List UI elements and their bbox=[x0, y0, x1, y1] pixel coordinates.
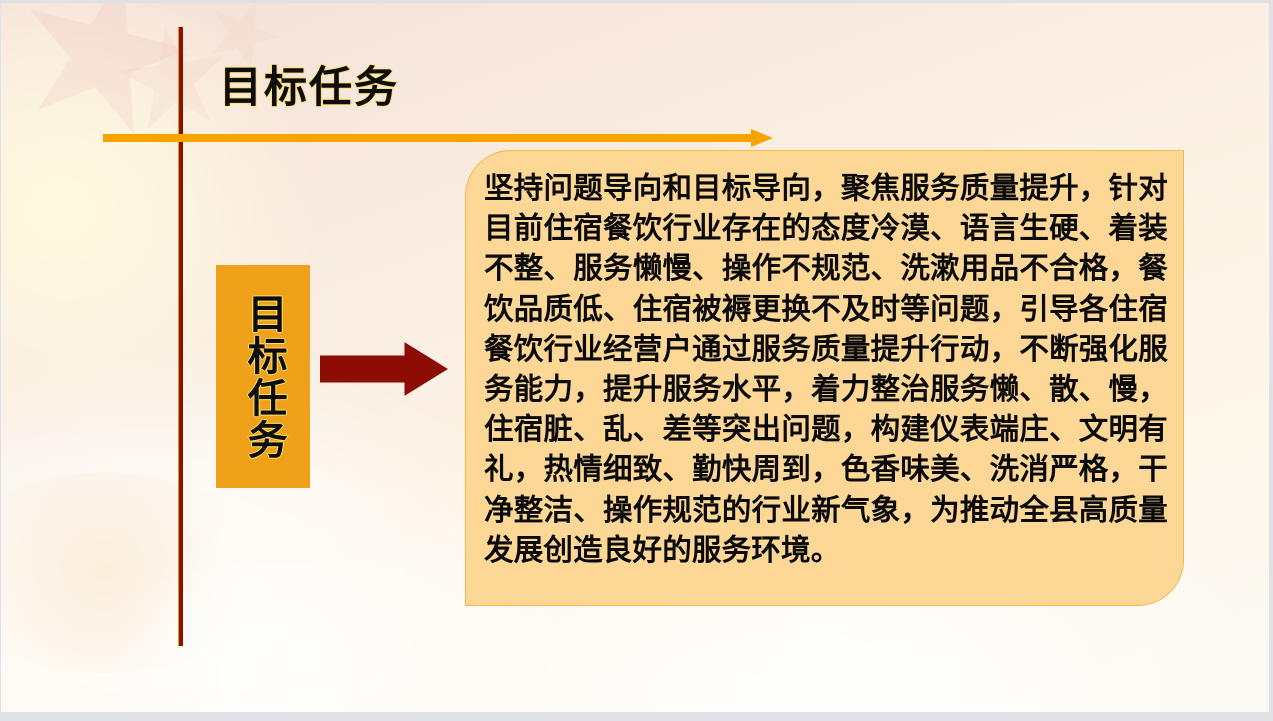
horizontal-rule-arrowhead-icon bbox=[751, 129, 773, 147]
page-title: 目标任务 bbox=[219, 65, 399, 112]
section-label-text: 目标任务 bbox=[239, 293, 286, 461]
star-decoration-icon bbox=[111, 18, 235, 142]
right-block-arrow-icon bbox=[320, 341, 448, 397]
content-body-text: 坚持问题导向和目标导向，聚焦服务质量提升，针对目前住宿餐饮行业存在的态度冷漠、语… bbox=[484, 168, 1168, 570]
horizontal-rule-bar bbox=[103, 134, 755, 142]
slide-canvas: 目标任务 目标任务 坚持问题导向和目标导向，聚焦服务质量提升，针对目前住宿餐饮行… bbox=[0, 0, 1273, 721]
frame-edge-bottom bbox=[0, 712, 1273, 721]
horizontal-arrow-rule bbox=[103, 129, 775, 147]
frame-edge-right bbox=[1269, 0, 1273, 721]
section-label-box: 目标任务 bbox=[216, 265, 310, 488]
cloud-decoration bbox=[640, 593, 1160, 712]
cloud-decoration bbox=[60, 563, 490, 712]
vertical-divider-rule bbox=[178, 27, 183, 646]
slide-background: 目标任务 目标任务 坚持问题导向和目标导向，聚焦服务质量提升，针对目前住宿餐饮行… bbox=[0, 3, 1269, 712]
content-panel: 坚持问题导向和目标导向，聚焦服务质量提升，针对目前住宿餐饮行业存在的态度冷漠、语… bbox=[465, 150, 1184, 606]
block-arrow-shape bbox=[320, 341, 448, 397]
cloud-decoration bbox=[0, 473, 270, 673]
